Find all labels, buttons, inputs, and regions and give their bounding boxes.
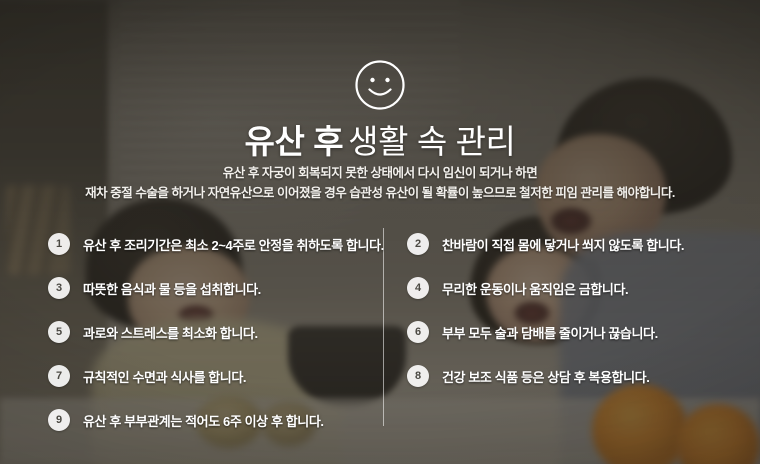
checklist-area: 1 유산 후 조리기간은 최소 2~4주로 안정을 취하도록 합니다. 3 따뜻…	[0, 222, 760, 432]
item-number-badge: 5	[48, 321, 70, 343]
page-subtitle-line-2: 재차 중절 수술을 하거나 자연유산으로 이어졌을 경우 습관성 유산이 될 확…	[0, 183, 760, 203]
list-item: 8 건강 보조 식품 등은 상담 후 복용합니다.	[407, 354, 684, 398]
item-number-badge: 1	[48, 233, 70, 255]
item-text: 유산 후 부부관계는 적어도 6주 이상 후 합니다.	[83, 411, 324, 430]
page-subtitle: 유산 후 자궁이 회복되지 못한 상태에서 다시 임신이 되거나 하면 재차 중…	[0, 163, 760, 203]
checklist-column-left: 1 유산 후 조리기간은 최소 2~4주로 안정을 취하도록 합니다. 3 따뜻…	[48, 222, 384, 442]
item-text: 따뜻한 음식과 물 등을 섭취합니다.	[83, 279, 261, 298]
banner-content: 유산 후생활 속 관리 유산 후 자궁이 회복되지 못한 상태에서 다시 임신이…	[0, 0, 760, 464]
list-item: 1 유산 후 조리기간은 최소 2~4주로 안정을 취하도록 합니다.	[48, 222, 384, 266]
smiley-face-icon	[353, 58, 407, 112]
item-text: 유산 후 조리기간은 최소 2~4주로 안정을 취하도록 합니다.	[83, 235, 384, 254]
item-text: 부부 모두 술과 담배를 줄이거나 끊습니다.	[442, 323, 658, 342]
item-number-badge: 2	[407, 233, 429, 255]
item-text: 무리한 운동이나 움직임은 금합니다.	[442, 279, 628, 298]
page-title: 유산 후생활 속 관리	[0, 122, 760, 162]
checklist-column-right: 2 찬바람이 직접 몸에 닿거나 쐬지 않도록 합니다. 4 무리한 운동이나 …	[407, 222, 684, 398]
item-text: 과로와 스트레스를 최소화 합니다.	[83, 323, 258, 342]
page-title-light: 생활 속 관리	[348, 123, 515, 160]
page-subtitle-line-1: 유산 후 자궁이 회복되지 못한 상태에서 다시 임신이 되거나 하면	[0, 163, 760, 183]
list-item: 4 무리한 운동이나 움직임은 금합니다.	[407, 266, 684, 310]
item-text: 규칙적인 수면과 식사를 합니다.	[83, 367, 246, 386]
item-text: 찬바람이 직접 몸에 닿거나 쐬지 않도록 합니다.	[442, 235, 684, 254]
list-item: 2 찬바람이 직접 몸에 닿거나 쐬지 않도록 합니다.	[407, 222, 684, 266]
list-item: 9 유산 후 부부관계는 적어도 6주 이상 후 합니다.	[48, 398, 384, 442]
item-number-badge: 6	[407, 321, 429, 343]
list-item: 5 과로와 스트레스를 최소화 합니다.	[48, 310, 384, 354]
list-item: 7 규칙적인 수면과 식사를 합니다.	[48, 354, 384, 398]
item-number-badge: 7	[48, 365, 70, 387]
item-number-badge: 8	[407, 365, 429, 387]
smiley-icon-wrap	[0, 58, 760, 112]
promo-banner: 유산 후생활 속 관리 유산 후 자궁이 회복되지 못한 상태에서 다시 임신이…	[0, 0, 760, 464]
page-title-strong: 유산 후	[245, 123, 344, 160]
list-item: 6 부부 모두 술과 담배를 줄이거나 끊습니다.	[407, 310, 684, 354]
list-item: 3 따뜻한 음식과 물 등을 섭취합니다.	[48, 266, 384, 310]
item-number-badge: 4	[407, 277, 429, 299]
item-number-badge: 3	[48, 277, 70, 299]
item-text: 건강 보조 식품 등은 상담 후 복용합니다.	[442, 367, 649, 386]
item-number-badge: 9	[48, 409, 70, 431]
